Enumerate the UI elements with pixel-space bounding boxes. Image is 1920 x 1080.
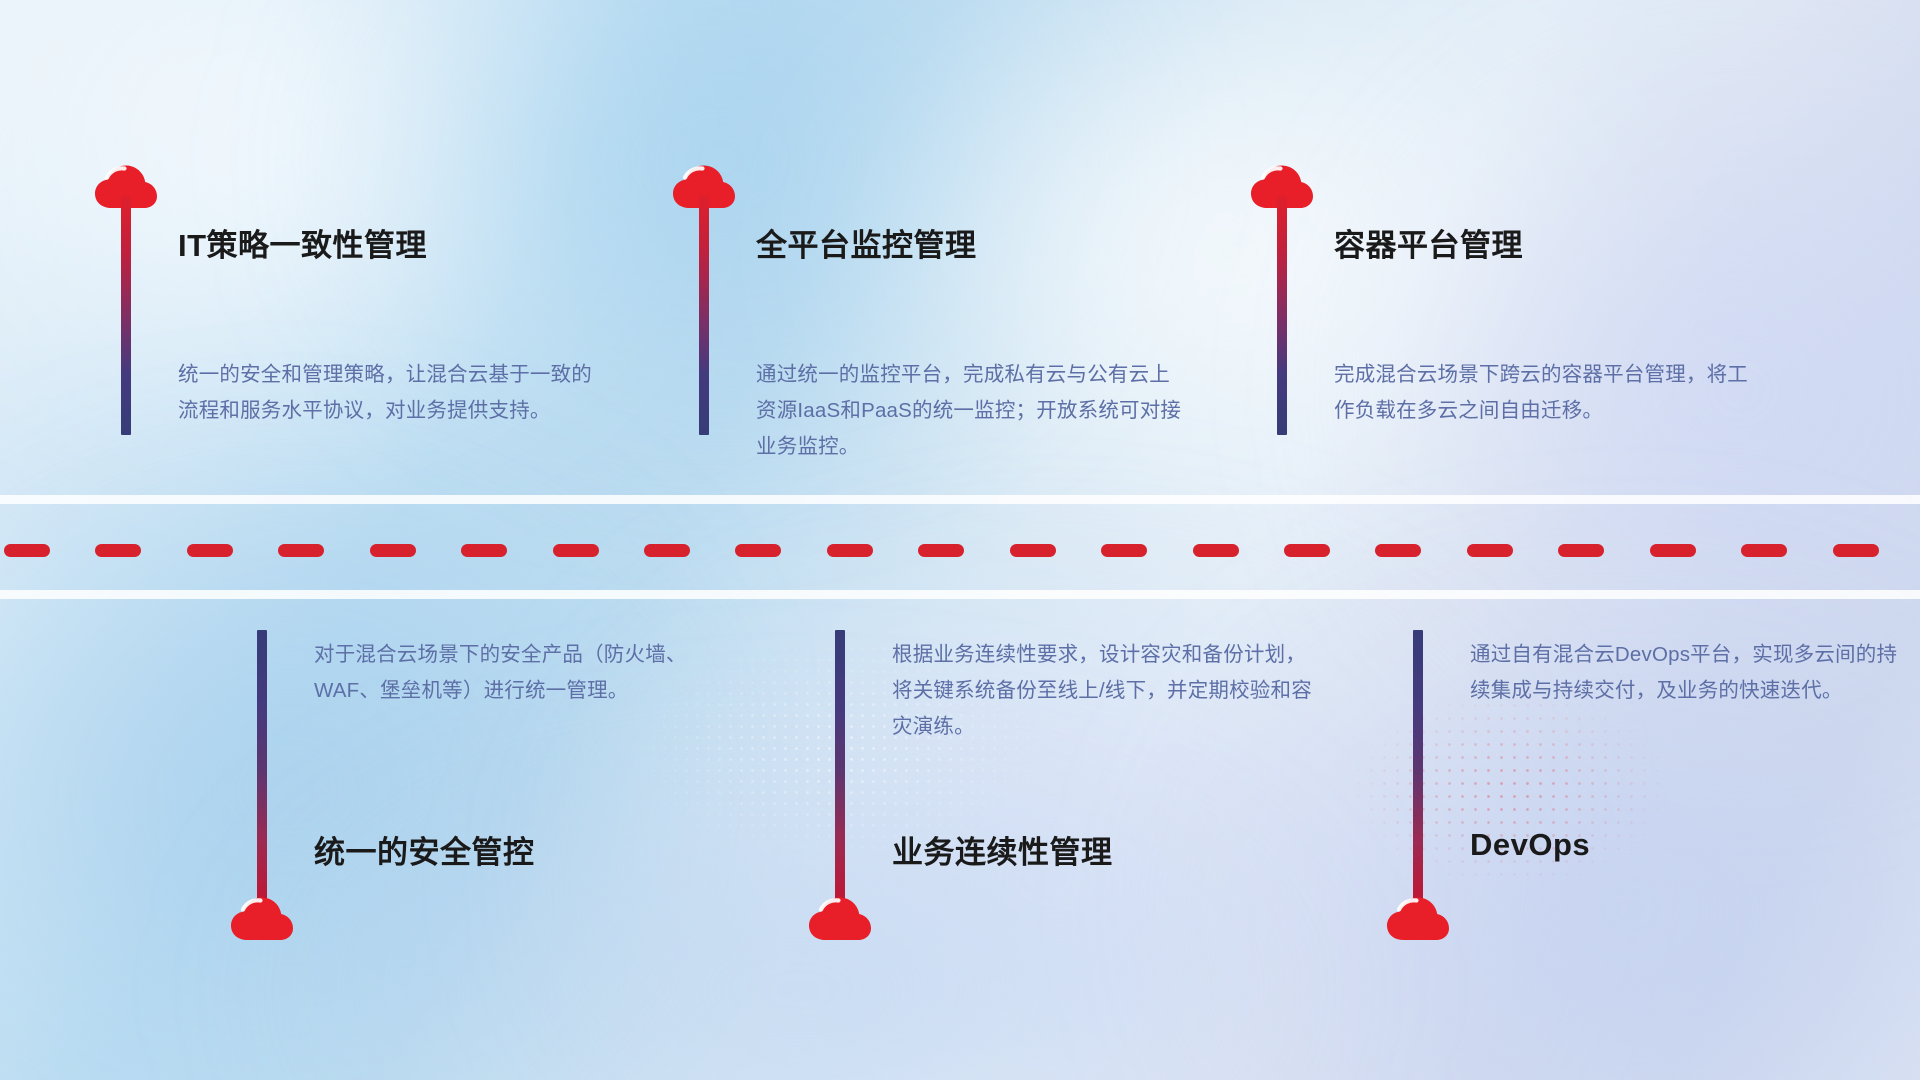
feature-heading: 容器平台管理	[1334, 220, 1523, 265]
divider-dash	[1467, 544, 1513, 557]
feature-heading: 业务连续性管理	[892, 827, 1113, 872]
divider-dash	[187, 544, 233, 557]
divider-dash	[644, 544, 690, 557]
cloud-icon	[230, 896, 294, 942]
divider-dash	[735, 544, 781, 557]
divider-line-bottom	[0, 590, 1920, 599]
feature-heading: IT策略一致性管理	[178, 220, 427, 265]
infographic-canvas: IT策略一致性管理 统一的安全和管理策略，让混合云基于一致的流程和服务水平协议，…	[0, 0, 1920, 1080]
connector-stem	[1413, 630, 1423, 908]
divider-dash	[1558, 544, 1604, 557]
feature-heading: 统一的安全管控	[314, 827, 535, 872]
feature-body: 完成混合云场景下跨云的容器平台管理，将工作负载在多云之间自由迁移。	[1334, 357, 1764, 429]
feature-body: 对于混合云场景下的安全产品（防火墙、WAF、堡垒机等）进行统一管理。	[314, 637, 744, 709]
divider-dash	[827, 544, 873, 557]
divider-dash	[1650, 544, 1696, 557]
divider-dashed-line	[0, 544, 1920, 557]
divider-dash	[1833, 544, 1879, 557]
divider-dash	[278, 544, 324, 557]
connector-stem	[1277, 195, 1287, 435]
feature-body: 根据业务连续性要求，设计容灾和备份计划，将关键系统备份至线上/线下，并定期校验和…	[892, 637, 1322, 745]
divider-dash	[1101, 544, 1147, 557]
feature-heading: DevOps	[1470, 827, 1590, 863]
divider-dash	[95, 544, 141, 557]
connector-stem	[257, 630, 267, 908]
feature-body: 通过统一的监控平台，完成私有云与公有云上资源IaaS和PaaS的统一监控；开放系…	[756, 357, 1186, 465]
feature-body: 统一的安全和管理策略，让混合云基于一致的流程和服务水平协议，对业务提供支持。	[178, 357, 608, 429]
divider-dash	[461, 544, 507, 557]
divider-dash	[1741, 544, 1787, 557]
connector-stem	[121, 195, 131, 435]
divider-dash	[1193, 544, 1239, 557]
divider-dash	[553, 544, 599, 557]
feature-heading: 全平台监控管理	[756, 220, 977, 265]
divider-line-top	[0, 495, 1920, 504]
cloud-icon	[808, 896, 872, 942]
divider-dash	[370, 544, 416, 557]
connector-stem	[835, 630, 845, 908]
divider-dash	[918, 544, 964, 557]
cloud-icon	[1386, 896, 1450, 942]
divider-dash	[1010, 544, 1056, 557]
connector-stem	[699, 195, 709, 435]
divider-dash	[1375, 544, 1421, 557]
divider-dash	[1284, 544, 1330, 557]
feature-body: 通过自有混合云DevOps平台，实现多云间的持续集成与持续交付，及业务的快速迭代…	[1470, 637, 1900, 709]
divider-dash	[4, 544, 50, 557]
